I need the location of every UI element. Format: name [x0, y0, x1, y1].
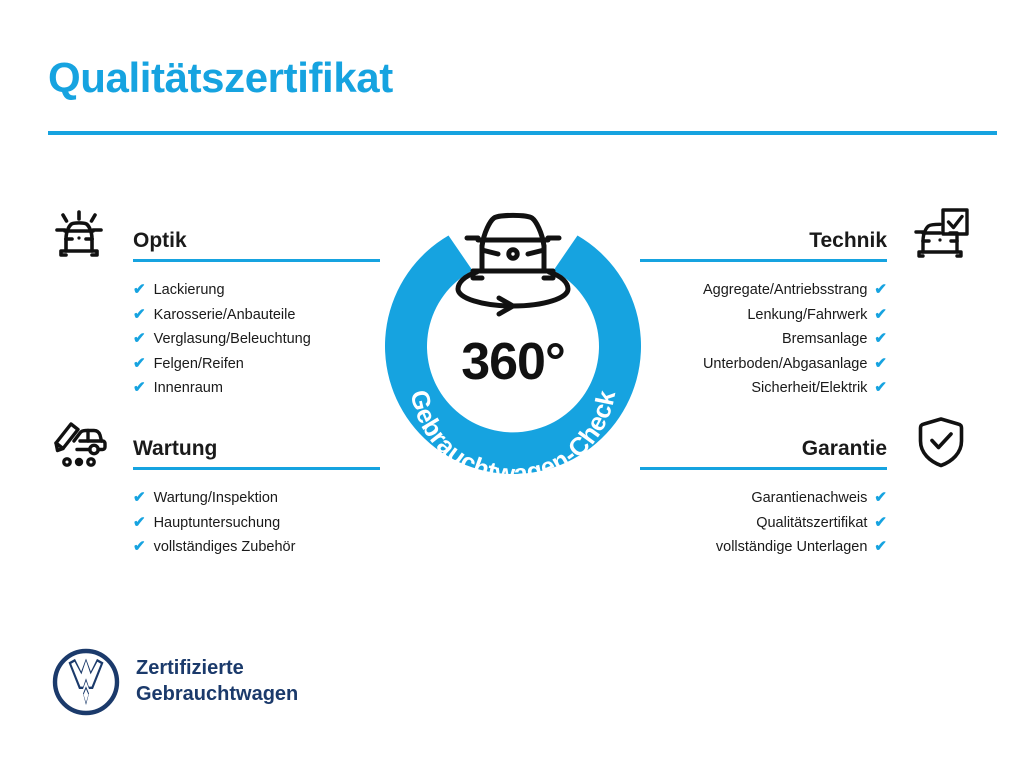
section-header: Technik: [640, 206, 972, 262]
check-icon: ✔: [133, 352, 146, 376]
list-item-label: Felgen/Reifen: [154, 353, 244, 377]
check-icon: ✔: [133, 486, 146, 510]
section-title-wrap: Optik: [110, 229, 380, 262]
section-title: Optik: [133, 229, 380, 259]
list-item-label: Qualitätszertifikat: [756, 512, 867, 536]
list-item-label: Wartung/Inspektion: [154, 487, 278, 511]
check-icon: ✔: [133, 327, 146, 351]
check-icon: ✔: [133, 278, 146, 302]
list-item-label: Aggregate/Antriebsstrang: [703, 279, 867, 303]
checklist-technik: Aggregate/Antriebsstrang✔ Lenkung/Fahrwe…: [640, 278, 972, 401]
list-item-label: Sicherheit/Elektrik: [751, 377, 867, 401]
list-item: Aggregate/Antriebsstrang✔: [640, 278, 887, 303]
list-item: ✔Innenraum: [133, 376, 380, 401]
list-item-label: Garantienachweis: [751, 487, 867, 511]
checklist-optik: ✔Lackierung ✔Karosserie/Anbauteile ✔Verg…: [48, 278, 380, 401]
check-icon: ✔: [133, 535, 146, 559]
section-underline: [133, 259, 380, 262]
vw-logo-icon: [52, 648, 120, 716]
list-item: ✔Karosserie/Anbauteile: [133, 303, 380, 328]
section-title: Garantie: [640, 437, 887, 467]
section-underline: [640, 259, 887, 262]
section-garantie: Garantie Garantienachweis✔ Qualitätszert…: [640, 414, 972, 560]
list-item: Garantienachweis✔: [640, 486, 887, 511]
section-title: Technik: [640, 229, 887, 259]
section-underline: [640, 467, 887, 470]
page-title: Qualitätszertifikat: [48, 54, 393, 102]
list-item-label: Lenkung/Fahrwerk: [747, 304, 867, 328]
car-polish-icon: [48, 206, 110, 262]
checklist-garantie: Garantienachweis✔ Qualitätszertifikat✔ v…: [640, 486, 972, 560]
list-item-label: vollständiges Zubehör: [154, 536, 296, 560]
check-icon: ✔: [874, 352, 887, 376]
section-header: Optik: [48, 206, 380, 262]
check-icon: ✔: [133, 303, 146, 327]
car-checkbox-icon: [910, 206, 972, 262]
list-item: ✔Hauptuntersuchung: [133, 511, 380, 536]
list-item: ✔Verglasung/Beleuchtung: [133, 327, 380, 352]
list-item: Bremsanlage✔: [640, 327, 887, 352]
list-item-label: Karosserie/Anbauteile: [154, 304, 296, 328]
section-header: Garantie: [640, 414, 972, 470]
section-technik: Technik: [640, 206, 972, 401]
list-item: Sicherheit/Elektrik✔: [640, 376, 887, 401]
list-item-label: Bremsanlage: [782, 328, 867, 352]
check-icon: ✔: [133, 511, 146, 535]
list-item: ✔Felgen/Reifen: [133, 352, 380, 377]
section-underline: [133, 467, 380, 470]
list-item: ✔vollständiges Zubehör: [133, 535, 380, 560]
list-item-label: Innenraum: [154, 377, 223, 401]
list-item: Qualitätszertifikat✔: [640, 511, 887, 536]
360-check-badge: Gebrauchtwagen-Check 360°: [372, 194, 654, 494]
check-icon: ✔: [874, 535, 887, 559]
list-item: vollständige Unterlagen✔: [640, 535, 887, 560]
list-item-label: Lackierung: [154, 279, 225, 303]
check-icon: ✔: [874, 278, 887, 302]
car-rotation-icon: [458, 215, 568, 314]
section-title-wrap: Garantie: [640, 437, 910, 470]
section-title-wrap: Technik: [640, 229, 910, 262]
list-item-label: Hauptuntersuchung: [154, 512, 281, 536]
section-title-wrap: Wartung: [110, 437, 380, 470]
section-title: Wartung: [133, 437, 380, 467]
check-icon: ✔: [874, 486, 887, 510]
vw-brand-line2: Gebrauchtwagen: [136, 682, 298, 708]
list-item-label: Verglasung/Beleuchtung: [154, 328, 311, 352]
list-item: Lenkung/Fahrwerk✔: [640, 303, 887, 328]
list-item: ✔Wartung/Inspektion: [133, 486, 380, 511]
check-icon: ✔: [133, 376, 146, 400]
check-icon: ✔: [874, 511, 887, 535]
list-item-label: Unterboden/Abgasanlage: [703, 353, 867, 377]
section-header: Wartung: [48, 414, 380, 470]
section-wartung: Wartung ✔Wartung/Inspektion ✔Hauptunters…: [48, 414, 380, 560]
check-icon: ✔: [874, 303, 887, 327]
list-item: Unterboden/Abgasanlage✔: [640, 352, 887, 377]
vw-brand-text: Zertifizierte Gebrauchtwagen: [136, 656, 298, 707]
badge-center-value: 360°: [372, 336, 654, 388]
check-icon: ✔: [874, 376, 887, 400]
certificate-page: Qualitätszertifikat: [0, 0, 1024, 768]
vw-brand-block: Zertifizierte Gebrauchtwagen: [52, 648, 298, 716]
list-item-label: vollständige Unterlagen: [716, 536, 868, 560]
list-item: ✔Lackierung: [133, 278, 380, 303]
car-service-pencil-icon: [48, 414, 110, 470]
check-icon: ✔: [874, 327, 887, 351]
section-optik: Optik ✔Lackierung ✔Karosserie/Anbauteile…: [48, 206, 380, 401]
shield-check-icon: [910, 414, 972, 470]
vw-brand-line1: Zertifizierte: [136, 656, 298, 682]
checklist-wartung: ✔Wartung/Inspektion ✔Hauptuntersuchung ✔…: [48, 486, 380, 560]
header-divider: [48, 131, 997, 135]
